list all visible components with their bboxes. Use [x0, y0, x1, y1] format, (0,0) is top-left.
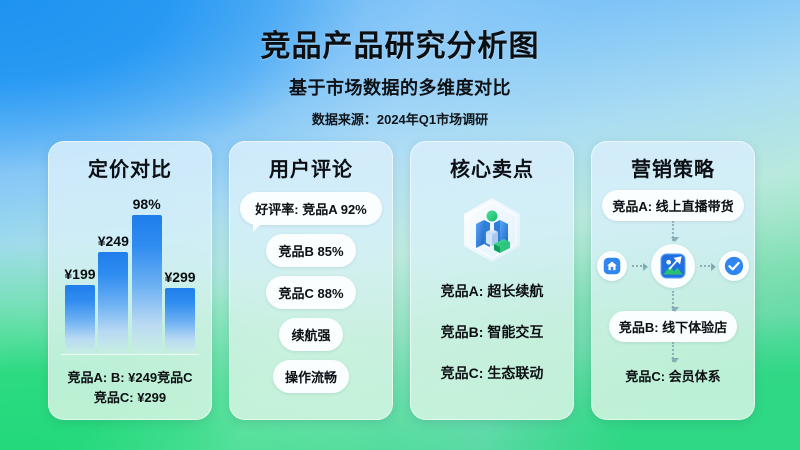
photo-edit-icon — [651, 244, 695, 288]
bar-group: ¥199 ¥249 98% ¥299 — [65, 190, 195, 354]
pricing-legend-line: 竞品A: B: ¥249竞品C — [68, 368, 193, 388]
review-bubble: 操作流畅 — [273, 360, 349, 393]
marketing-step: 竞品C: 会员体系 — [623, 362, 722, 389]
flow-connector-right — [700, 265, 714, 267]
bar-column: ¥299 — [165, 190, 195, 354]
bar-column: ¥249 — [98, 190, 128, 354]
review-bubble: 续航强 — [279, 318, 342, 351]
selling-point: 竞品A: 超长续航 — [441, 281, 544, 301]
bar-rect — [165, 288, 195, 353]
marketing-step: 竞品B: 线下体验店 — [609, 311, 737, 342]
bar-rect — [98, 252, 128, 354]
bar-column: ¥199 — [65, 190, 95, 354]
flow-connector-down — [672, 221, 674, 241]
card-title-pricing: 定价对比 — [88, 153, 172, 182]
bar-value-label: ¥199 — [64, 266, 95, 282]
hexagon-blocks-icon — [460, 196, 524, 269]
home-icon — [597, 251, 627, 281]
cards-row: 定价对比 ¥199 ¥249 98% — [48, 141, 755, 420]
review-bubble: 竞品C 88% — [266, 276, 355, 309]
marketing-icon-row — [597, 244, 749, 288]
selling-point: 竞品B: 智能交互 — [441, 322, 544, 342]
data-source-note: 数据来源：2024年Q1市场调研 — [0, 109, 800, 128]
card-title-reviews: 用户评论 — [269, 153, 353, 182]
flow-connector-down — [672, 291, 674, 311]
pricing-bar-chart: ¥199 ¥249 98% ¥299 — [59, 190, 201, 364]
card-marketing-strategy: 营销策略 竞品A: 线上直播带货 — [591, 141, 755, 420]
marketing-step: 竞品A: 线上直播带货 — [602, 190, 743, 221]
pricing-legend-line: 竞品C: ¥299 — [68, 388, 193, 408]
bar-value-label: ¥299 — [164, 269, 195, 285]
card-title-marketing: 营销策略 — [631, 153, 715, 182]
bar-value-label: ¥249 — [98, 233, 129, 249]
card-title-selling-points: 核心卖点 — [450, 153, 534, 182]
selling-point-list: 竞品A: 超长续航 竞品B: 智能交互 竞品C: 生态联动 — [421, 281, 563, 383]
pricing-legend: 竞品A: B: ¥249竞品C 竞品C: ¥299 — [68, 368, 193, 408]
selling-point: 竞品C: 生态联动 — [441, 363, 544, 383]
flow-connector-down — [672, 342, 674, 362]
card-pricing-comparison: 定价对比 ¥199 ¥249 98% — [48, 141, 212, 420]
bar-rect — [65, 285, 95, 354]
review-bubble-list: 好评率: 竞品A 92% 竞品B 85% 竞品C 88% 续航强 操作流畅 — [240, 192, 382, 393]
page-title: 竞品产品研究分析图 — [0, 21, 800, 65]
page-subtitle: 基于市场数据的多维度对比 — [0, 74, 800, 100]
card-core-selling-points: 核心卖点 — [410, 141, 574, 420]
marketing-flow: 竞品A: 线上直播带货 — [602, 190, 744, 389]
bar-value-label: 98% — [133, 196, 161, 212]
flow-connector-right — [632, 265, 646, 267]
check-badge-icon — [719, 251, 749, 281]
poster-header: 竞品产品研究分析图 基于市场数据的多维度对比 数据来源：2024年Q1市场调研 — [0, 0, 800, 128]
bar-column: 98% — [132, 190, 162, 354]
review-bubble: 竞品B 85% — [266, 234, 355, 267]
review-bubble: 好评率: 竞品A 92% — [240, 192, 382, 225]
poster-canvas: 竞品产品研究分析图 基于市场数据的多维度对比 数据来源：2024年Q1市场调研 … — [0, 0, 800, 450]
card-user-reviews: 用户评论 好评率: 竞品A 92% 竞品B 85% 竞品C 88% 续航强 操作… — [229, 141, 393, 420]
chart-baseline — [61, 354, 199, 355]
bar-rect — [132, 215, 162, 354]
